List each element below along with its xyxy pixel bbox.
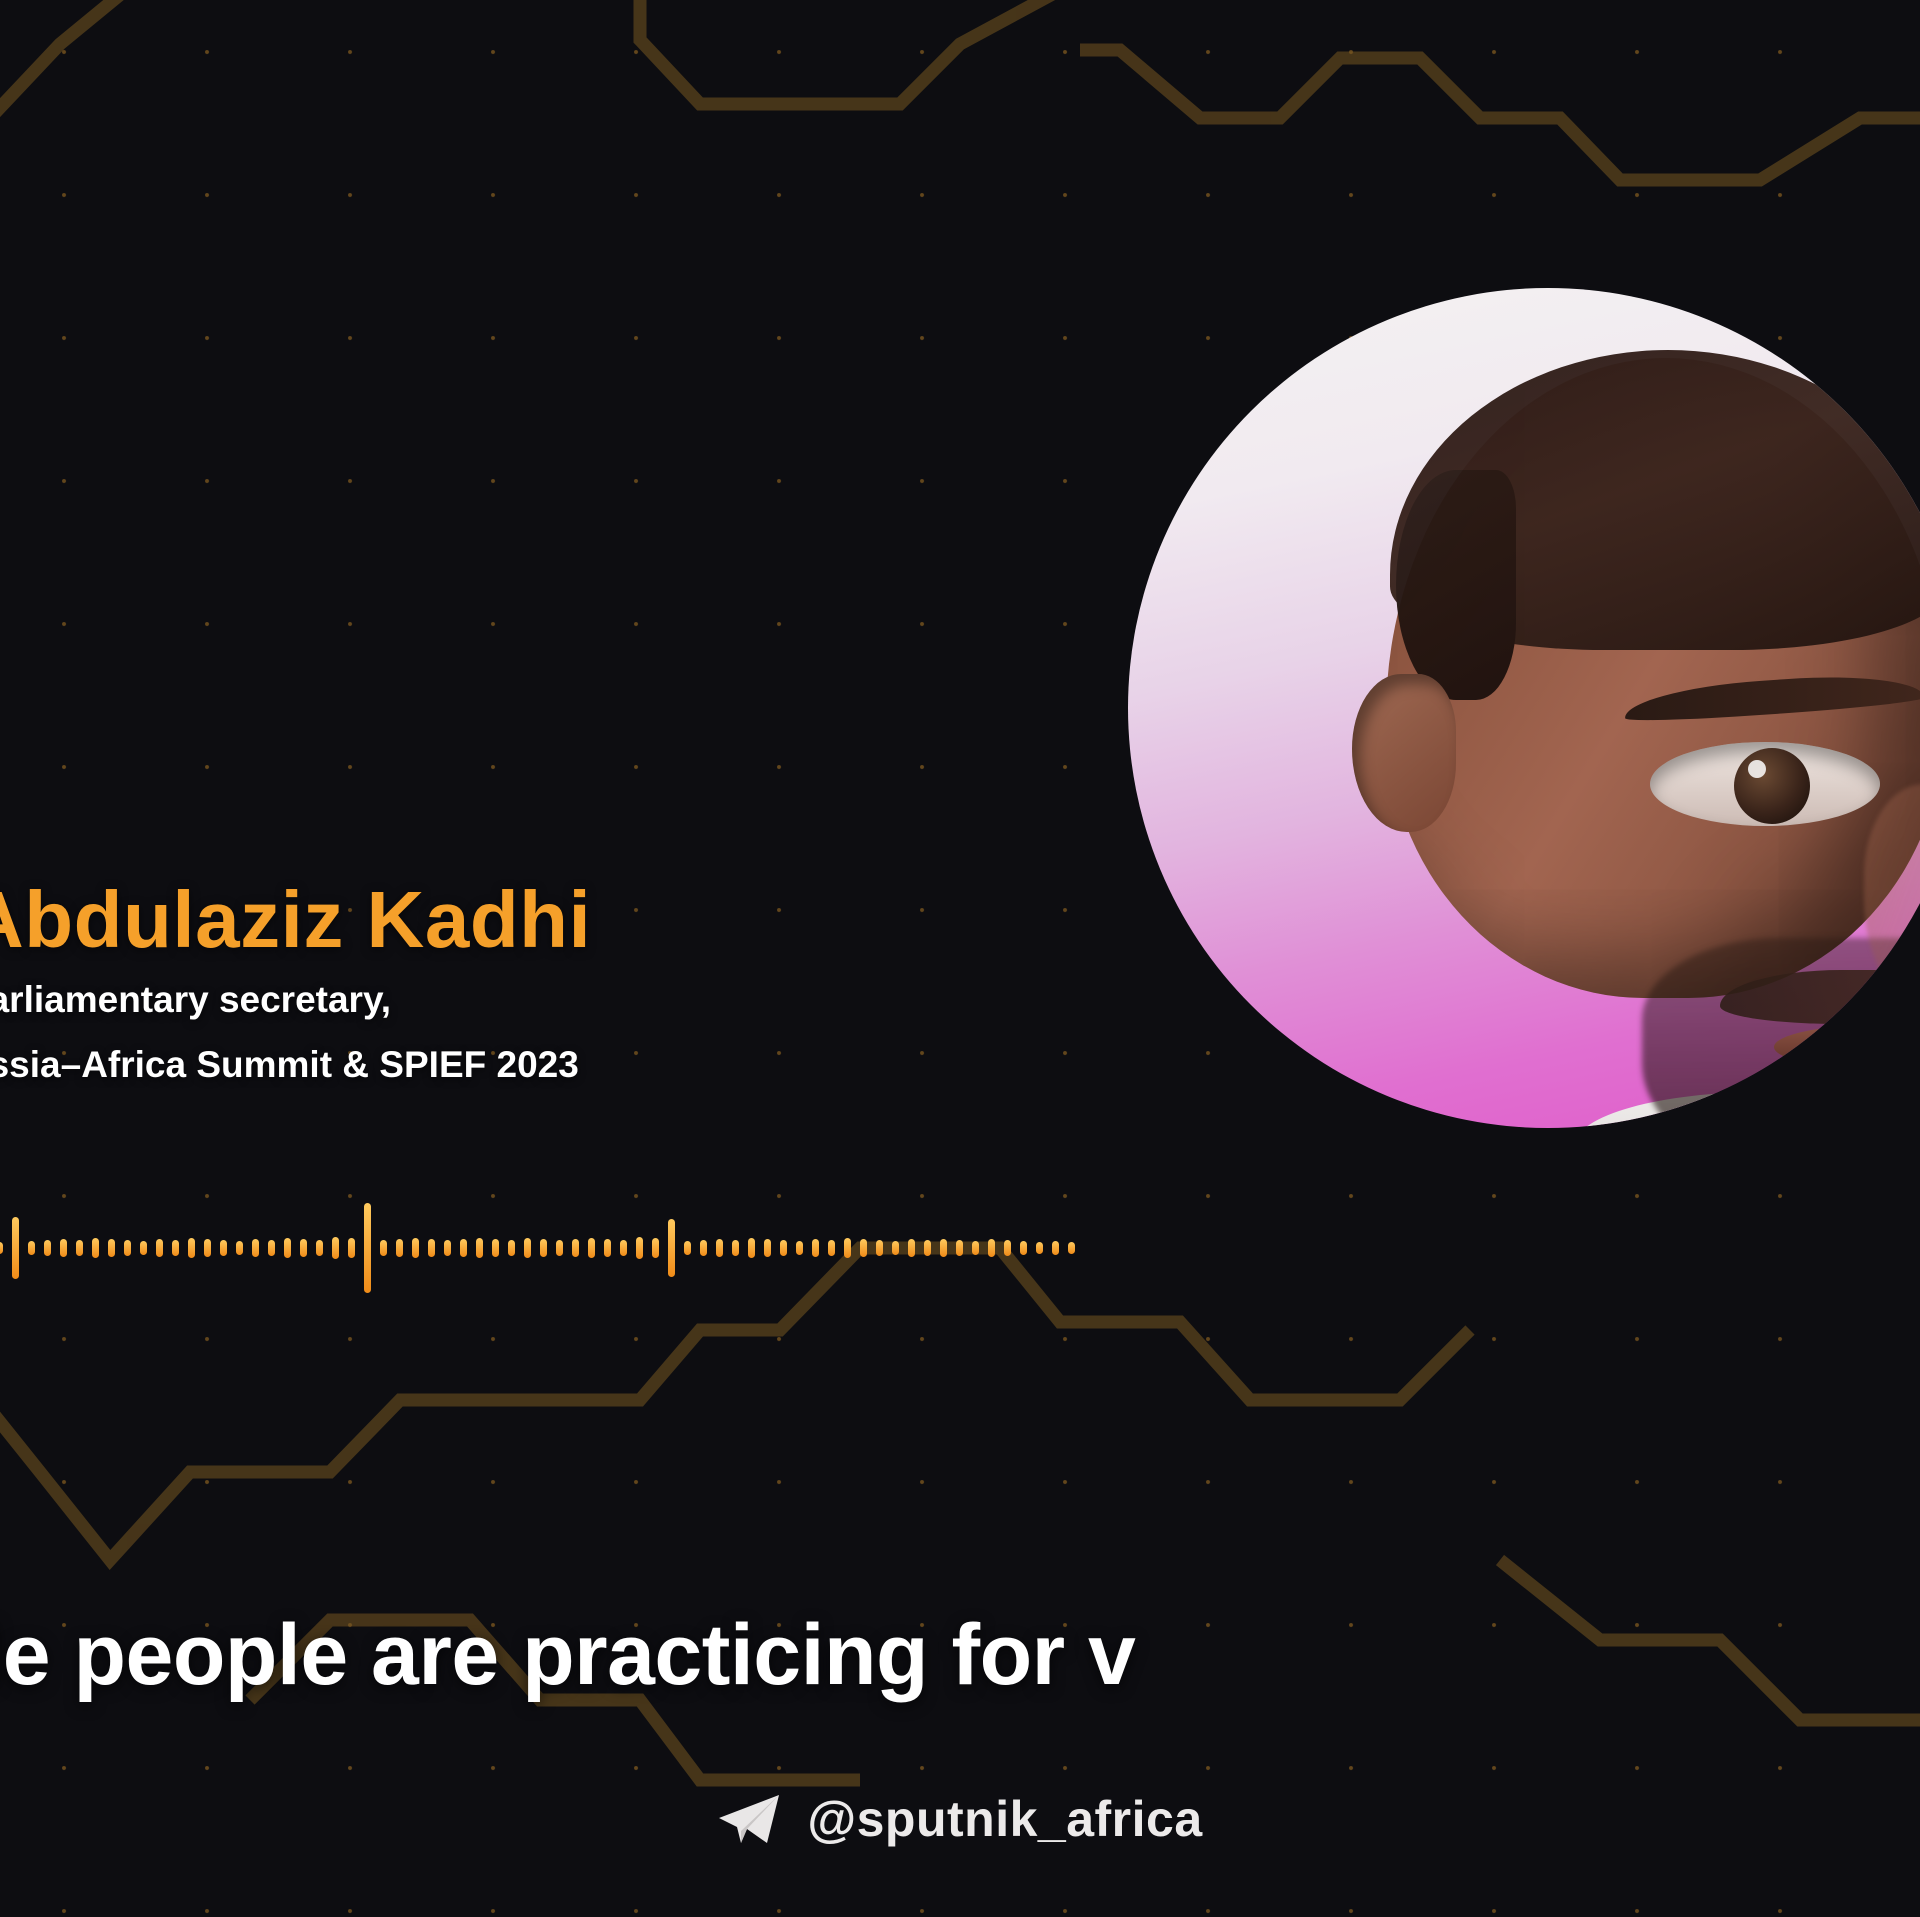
waveform-bar	[92, 1238, 99, 1258]
waveform-bar	[1036, 1242, 1043, 1254]
waveform-bar	[716, 1239, 723, 1257]
waveform-bar	[396, 1239, 403, 1257]
waveform-bar	[508, 1240, 515, 1256]
portrait-hair	[1390, 350, 1920, 650]
telegram-handle-text: @sputnik_africa	[807, 1790, 1202, 1848]
waveform-bar	[0, 1242, 3, 1254]
speaker-info: Abdulaziz Kadhi parliamentary secretary,…	[0, 880, 1146, 1090]
telegram-icon	[717, 1791, 781, 1847]
waveform-bar	[60, 1239, 67, 1257]
waveform-bar	[556, 1240, 563, 1256]
audio-waveform[interactable]	[0, 1178, 1140, 1318]
waveform-bar	[844, 1238, 851, 1258]
waveform-bar	[492, 1239, 499, 1257]
waveform-bar	[668, 1219, 675, 1277]
waveform-bar	[652, 1238, 659, 1258]
waveform-bar	[924, 1240, 931, 1256]
waveform-bar	[252, 1239, 259, 1257]
waveform-bar	[220, 1240, 227, 1256]
waveform-bar	[316, 1240, 323, 1256]
waveform-bar	[956, 1240, 963, 1256]
waveform-bar	[44, 1240, 51, 1256]
waveform-bar	[188, 1238, 195, 1258]
waveform-bar	[588, 1238, 595, 1258]
waveform-bar	[12, 1217, 19, 1279]
waveform-bar	[524, 1238, 531, 1258]
waveform-bar	[28, 1241, 35, 1255]
waveform-bar	[988, 1239, 995, 1257]
waveform-bar	[268, 1240, 275, 1256]
waveform-bar	[892, 1241, 899, 1255]
speaker-portrait	[1128, 288, 1920, 1128]
waveform-bar	[700, 1240, 707, 1256]
waveform-bar	[796, 1241, 803, 1255]
waveform-bar	[76, 1240, 83, 1256]
waveform-bar	[604, 1239, 611, 1257]
waveform-bar	[540, 1239, 547, 1257]
speaker-role-line-2: ussia–Africa Summit & SPIEF 2023	[0, 1041, 1146, 1090]
waveform-bar	[108, 1239, 115, 1257]
portrait-head-illustration	[1324, 344, 1920, 1128]
waveform-bar	[1068, 1242, 1075, 1254]
waveform-bar	[780, 1240, 787, 1256]
sputnik-africa-quote-card: Abdulaziz Kadhi parliamentary secretary,…	[0, 0, 1920, 1917]
waveform-bar	[476, 1238, 483, 1258]
waveform-bar	[284, 1238, 291, 1258]
waveform-bar	[684, 1241, 691, 1255]
waveform-bar	[380, 1240, 387, 1256]
quote-text: ile people are practicing for v	[0, 1612, 1920, 1698]
waveform-bar	[812, 1239, 819, 1257]
waveform-bar	[1052, 1241, 1059, 1255]
waveform-bar	[876, 1240, 883, 1256]
waveform-bar	[828, 1240, 835, 1256]
waveform-bar	[748, 1238, 755, 1258]
waveform-bar	[300, 1239, 307, 1257]
waveform-bar	[940, 1239, 947, 1257]
waveform-bar	[860, 1239, 867, 1257]
waveform-bar	[444, 1240, 451, 1256]
waveform-bar	[1020, 1241, 1027, 1255]
telegram-handle[interactable]: @sputnik_africa	[0, 1790, 1920, 1848]
waveform-bar	[204, 1239, 211, 1257]
waveform-bar	[908, 1239, 915, 1257]
waveform-bar	[236, 1241, 243, 1255]
waveform-bar	[972, 1241, 979, 1255]
waveform-bar	[636, 1237, 643, 1259]
waveform-bar	[140, 1241, 147, 1255]
waveform-bar	[1004, 1240, 1011, 1256]
waveform-bar	[348, 1238, 355, 1258]
waveform-bar	[620, 1240, 627, 1256]
waveform-bar	[428, 1239, 435, 1257]
waveform-bar	[364, 1203, 371, 1293]
waveform-bar	[572, 1239, 579, 1257]
waveform-bar	[332, 1237, 339, 1259]
portrait-gradient-disc	[1128, 288, 1920, 1128]
portrait-ear	[1352, 674, 1456, 832]
waveform-bar	[172, 1240, 179, 1256]
speaker-name: Abdulaziz Kadhi	[0, 880, 1146, 960]
waveform-bar	[764, 1239, 771, 1257]
portrait-iris	[1734, 748, 1810, 824]
waveform-bar	[412, 1238, 419, 1258]
waveform-bar	[460, 1239, 467, 1257]
waveform-bar	[732, 1240, 739, 1256]
waveform-bar	[124, 1240, 131, 1256]
waveform-bar	[156, 1239, 163, 1257]
speaker-role-line-1: parliamentary secretary,	[0, 976, 1146, 1025]
